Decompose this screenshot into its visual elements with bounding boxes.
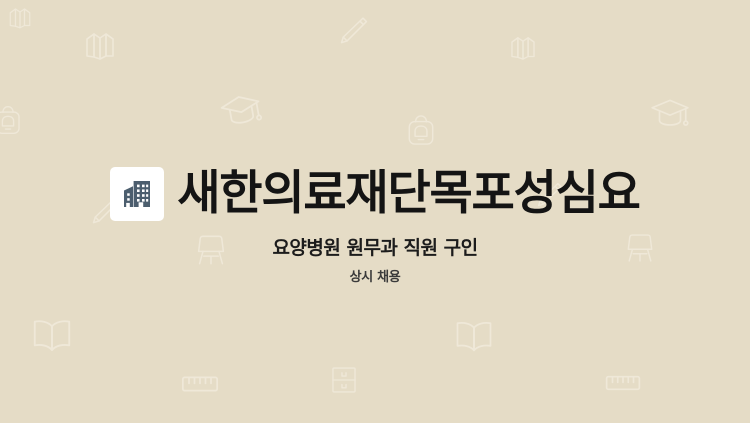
job-title: 요양병원 원무과 직원 구인 xyxy=(0,236,750,261)
poster-content: 새한의료재단목포성심요 요양병원 원무과 직원 구인 상시 채용 xyxy=(0,0,750,423)
building-icon xyxy=(119,176,155,212)
company-header: 새한의료재단목포성심요 xyxy=(110,167,639,221)
job-posting-poster: 새한의료재단목포성심요 요양병원 원무과 직원 구인 상시 채용 xyxy=(0,0,750,423)
hiring-status-label: 상시 채용 xyxy=(0,270,750,287)
company-name: 새한의료재단목포성심요 xyxy=(177,170,639,217)
job-summary: 요양병원 원무과 직원 구인 상시 채용 xyxy=(0,236,750,287)
company-logo-tile xyxy=(110,167,164,221)
